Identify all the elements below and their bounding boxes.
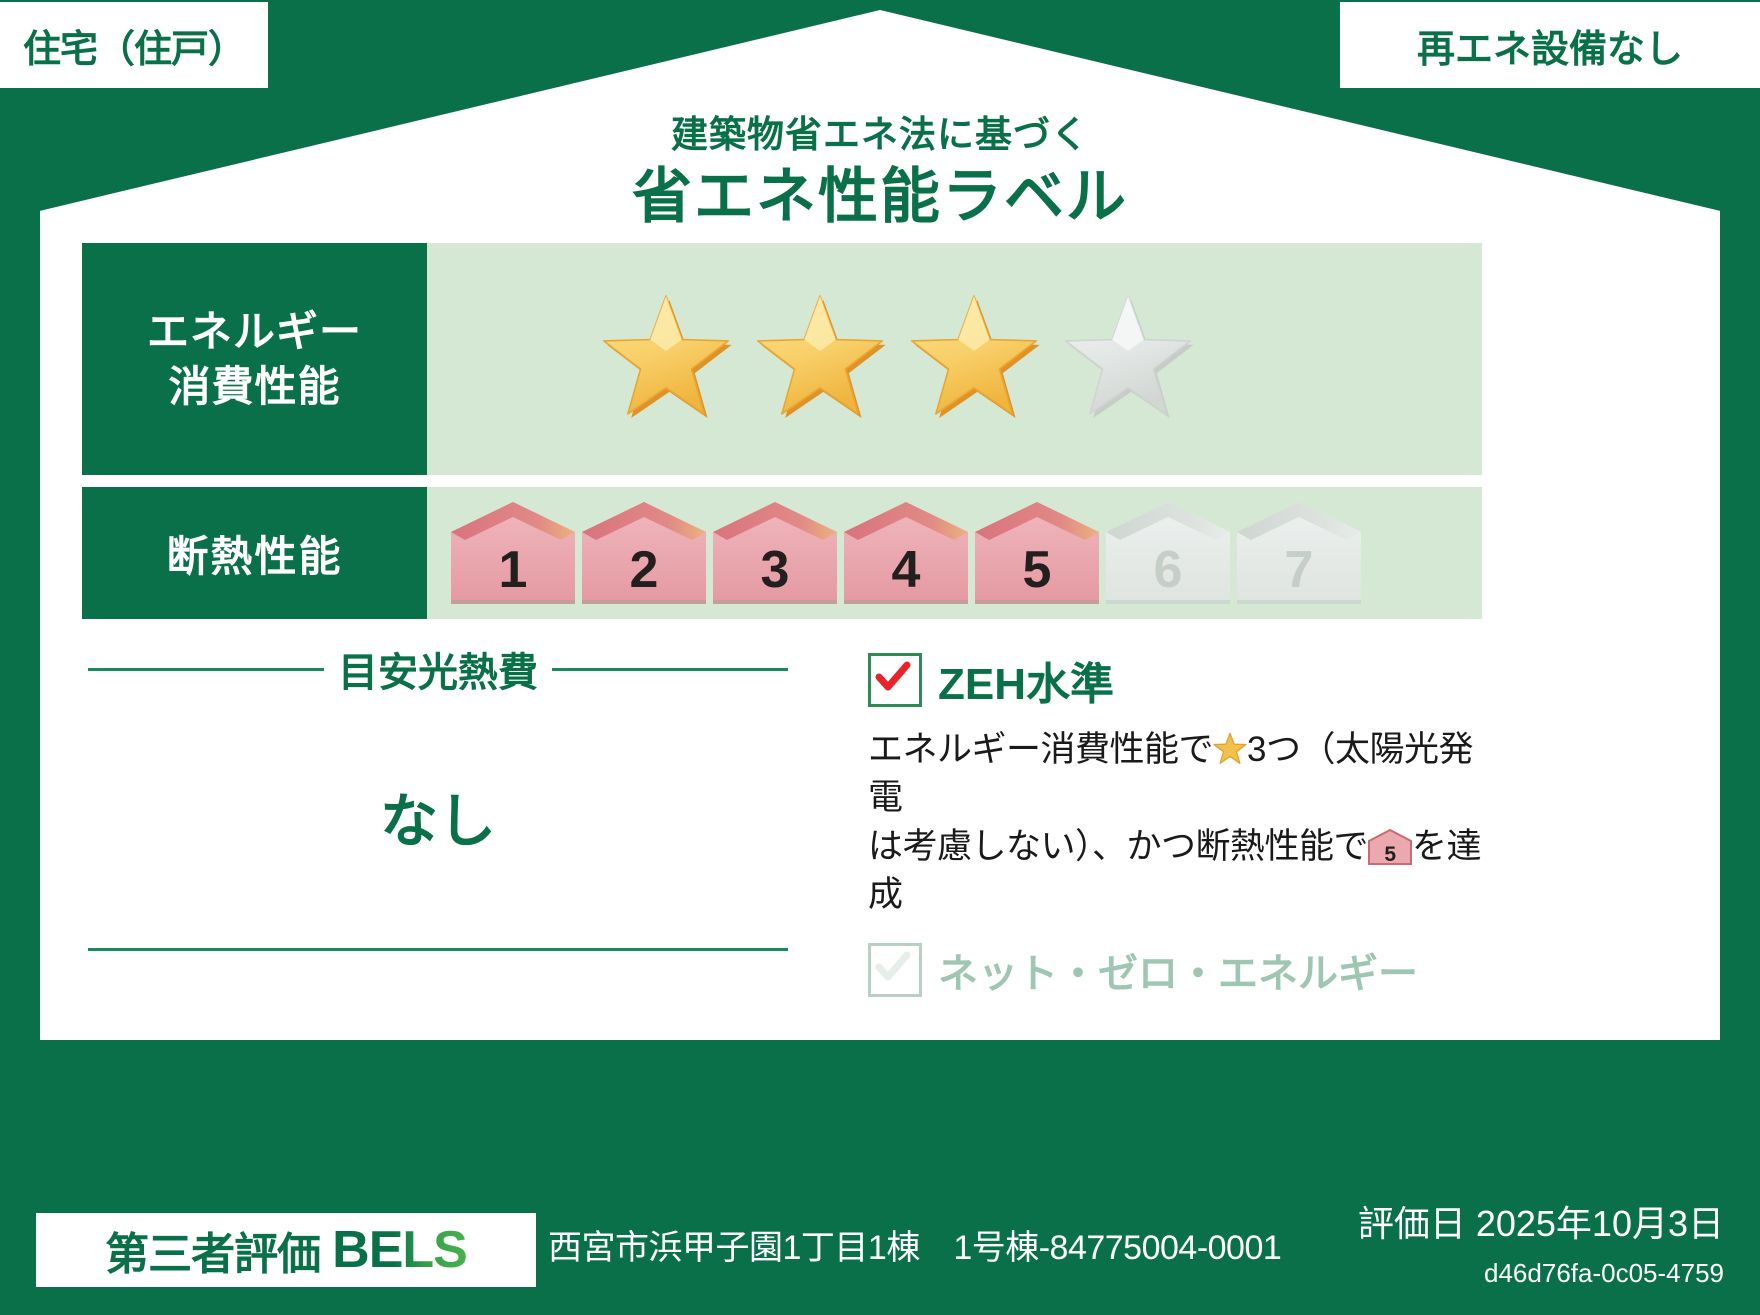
heading-rule-right	[552, 668, 788, 671]
category-badge-label: 住宅（住戸）	[23, 18, 245, 73]
bels-logo-en: BELS	[332, 1220, 467, 1280]
renewable-equipment-label: 再エネ設備なし	[1417, 18, 1683, 73]
bels-logo-jp: 第三者評価	[105, 1218, 320, 1282]
category-badge: 住宅（住戸）	[0, 2, 268, 88]
insulation-grade-number: 7	[1235, 540, 1363, 600]
insulation-label-text: 断熱性能	[166, 523, 342, 584]
insulation-grade-chip-on: 5	[973, 500, 1101, 606]
net-zero-energy-row: ネット・ゼロ・エネルギー	[868, 941, 1488, 999]
star-filled-icon	[753, 292, 887, 426]
insulation-grade-chip-on: 1	[449, 500, 577, 606]
energy-label-line2: 消費性能	[168, 359, 340, 414]
energy-performance-row: エネルギー 消費性能	[82, 243, 1482, 475]
star-filled-icon	[907, 292, 1041, 426]
insulation-grade-number: 2	[580, 540, 708, 600]
zeh-desc-grade: 5	[1368, 844, 1412, 865]
insulation-grade-chip-off: 6	[1104, 500, 1232, 606]
heading-rule-left	[88, 668, 324, 671]
star-inline-icon	[1213, 731, 1247, 765]
insulation-grade-chip-on: 4	[842, 500, 970, 606]
zeh-desc-part2: は考慮しない）、かつ断熱性能で	[868, 827, 1368, 866]
insulation-performance-label: 断熱性能	[82, 487, 427, 619]
utility-cost-heading-text: 目安光熱費	[338, 640, 538, 698]
insulation-grade-inline-chip: 5	[1368, 829, 1412, 865]
utility-cost-bottom-rule	[88, 948, 788, 951]
utility-cost-heading: 目安光熱費	[88, 640, 788, 698]
checkbox-checked-icon	[868, 653, 922, 707]
zeh-description: エネルギー消費性能で 3つ（太陽光発電 は考慮しない）、かつ断熱性能で 5 を達…	[868, 726, 1488, 919]
star-filled-icon	[599, 292, 733, 426]
utility-cost-value: なし	[88, 774, 788, 858]
evaluation-id: d46d76fa-0c05-4759	[1484, 1258, 1724, 1289]
insulation-grade-number: 1	[449, 540, 577, 600]
zeh-standard-row: ZEH水準	[868, 648, 1488, 712]
zeh-standard-label: ZEH水準	[938, 648, 1114, 712]
property-address: 西宮市浜甲子園1丁目1棟 1号棟-84775004-0001	[548, 1220, 1281, 1269]
insulation-grade-number: 6	[1104, 540, 1232, 600]
insulation-grade-chip-on: 3	[711, 500, 839, 606]
insulation-grade-number: 4	[842, 540, 970, 600]
bels-energy-label: 住宅（住戸） 再エネ設備なし 建築物省エネ法に基づく 省エネ性能ラベル エネルギ…	[0, 0, 1760, 1315]
bels-logo: 第三者評価 BELS	[36, 1213, 536, 1287]
zeh-desc-part1: エネルギー消費性能で	[868, 730, 1213, 769]
energy-performance-label: エネルギー 消費性能	[82, 243, 427, 475]
page-title: 省エネ性能ラベル	[0, 148, 1760, 235]
insulation-performance-row: 断熱性能 1234567	[82, 487, 1482, 619]
star-empty-icon	[1061, 292, 1195, 426]
insulation-grade-chip-off: 7	[1235, 500, 1363, 606]
utility-cost-section: 目安光熱費 なし	[88, 640, 788, 858]
energy-label-line1: エネルギー	[147, 304, 362, 359]
renewable-equipment-badge: 再エネ設備なし	[1340, 2, 1760, 88]
footer: 第三者評価 BELS 西宮市浜甲子園1丁目1棟 1号棟-84775004-000…	[0, 1195, 1760, 1315]
checkbox-unchecked-icon	[868, 943, 922, 997]
insulation-grade-chip-on: 2	[580, 500, 708, 606]
net-zero-energy-label: ネット・ゼロ・エネルギー	[938, 941, 1418, 999]
insulation-grade-scale: 1234567	[427, 487, 1482, 619]
insulation-grade-number: 5	[973, 540, 1101, 600]
insulation-grade-number: 3	[711, 540, 839, 600]
zeh-section: ZEH水準 エネルギー消費性能で 3つ（太陽光発電 は考慮しない）、かつ断熱性能…	[868, 648, 1488, 999]
energy-star-rating	[427, 243, 1482, 475]
evaluation-date: 評価日 2025年10月3日	[1358, 1195, 1724, 1247]
